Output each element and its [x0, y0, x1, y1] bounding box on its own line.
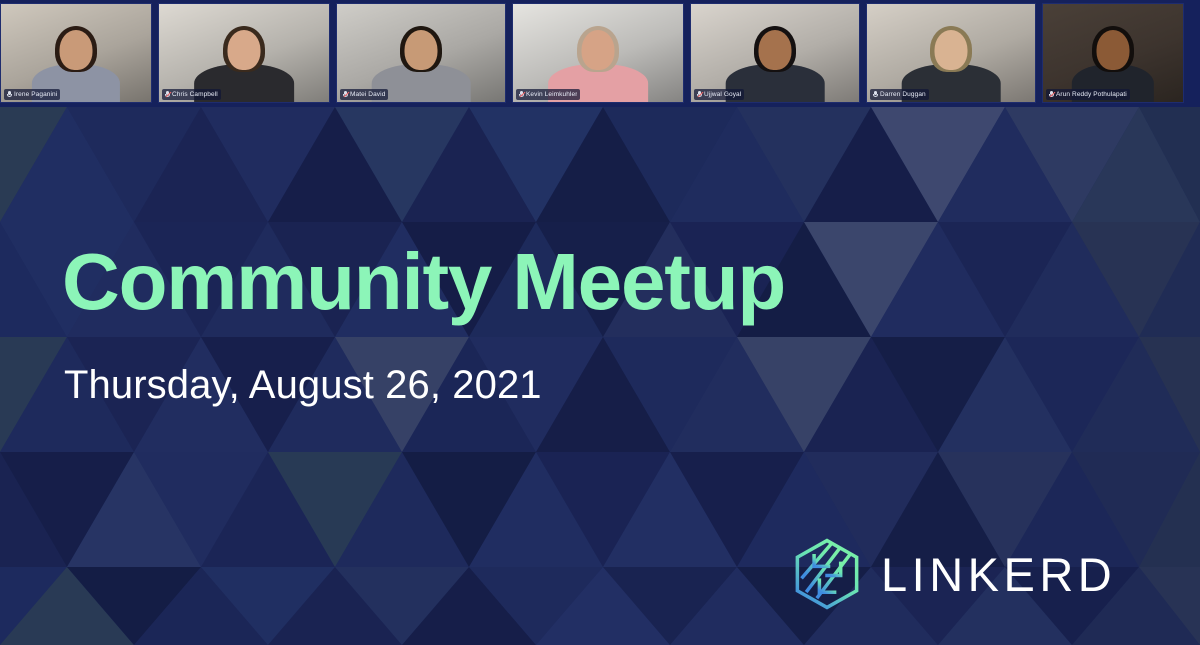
microphone-muted-icon: [519, 91, 524, 99]
participant-name: Arun Reddy Pothulapati: [1056, 89, 1127, 100]
microphone-muted-icon: [697, 91, 702, 99]
participant-name-badge: Chris Campbell: [162, 89, 221, 100]
slide-subtitle: Thursday, August 26, 2021: [64, 365, 542, 405]
linkerd-hex-mesh-logo-icon: [789, 536, 865, 612]
presentation-screen: Irene PaganiniChris CampbellMatei DavidK…: [0, 0, 1200, 645]
participant-tile[interactable]: Ujjwal Goyal: [690, 3, 860, 103]
participant-tile[interactable]: Darren Duggan: [866, 3, 1036, 103]
participant-name: Chris Campbell: [172, 89, 218, 100]
participant-name: Irene Paganini: [14, 89, 57, 100]
participant-tile[interactable]: Kevin Leimkuhler: [512, 3, 684, 103]
participant-video-strip: Irene PaganiniChris CampbellMatei DavidK…: [0, 0, 1200, 107]
participant-tile[interactable]: Matei David: [336, 3, 506, 103]
participant-name-badge: Arun Reddy Pothulapati: [1046, 89, 1130, 100]
linkerd-wordmark: LINKERD: [881, 551, 1116, 598]
microphone-icon: [873, 91, 878, 99]
microphone-icon: [7, 91, 12, 99]
participant-name: Matei David: [350, 89, 385, 100]
participant-name-badge: Kevin Leimkuhler: [516, 89, 580, 100]
participant-name: Kevin Leimkuhler: [526, 89, 577, 100]
participant-name-badge: Ujjwal Goyal: [694, 89, 744, 100]
participant-name-badge: Darren Duggan: [870, 89, 929, 100]
microphone-muted-icon: [1049, 91, 1054, 99]
participant-name-badge: Irene Paganini: [4, 89, 60, 100]
slide-title: Community Meetup: [62, 242, 785, 322]
microphone-muted-icon: [165, 91, 170, 99]
linkerd-logo-lockup: LINKERD: [789, 536, 1116, 612]
participant-tile[interactable]: Irene Paganini: [0, 3, 152, 103]
participant-name: Ujjwal Goyal: [704, 89, 741, 100]
microphone-muted-icon: [343, 91, 348, 99]
participant-tile[interactable]: Chris Campbell: [158, 3, 330, 103]
participant-name-badge: Matei David: [340, 89, 388, 100]
participant-name: Darren Duggan: [880, 89, 926, 100]
slide-canvas: Community Meetup Thursday, August 26, 20…: [0, 107, 1200, 645]
participant-tile[interactable]: Arun Reddy Pothulapati: [1042, 3, 1184, 103]
